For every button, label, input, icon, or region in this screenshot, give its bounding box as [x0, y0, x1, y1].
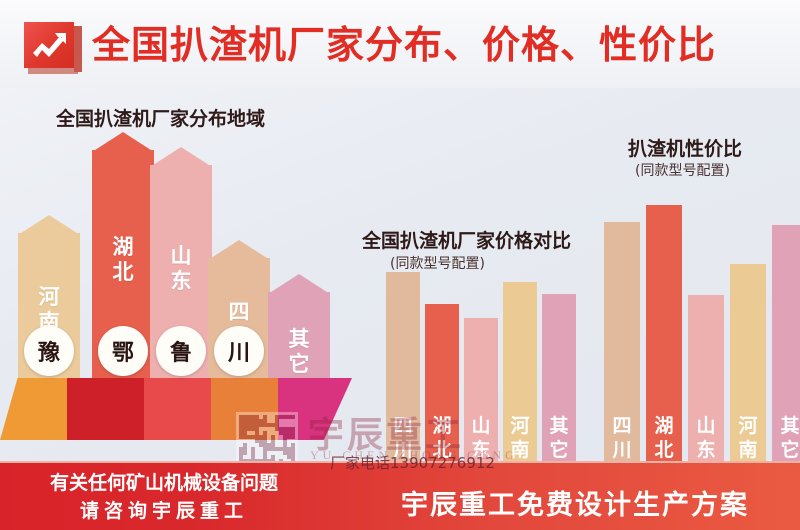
bar-value-for-money-4: 其 它 [772, 225, 800, 470]
bar-label: 四 川 [612, 414, 633, 462]
province-badge: 鲁 [156, 326, 206, 376]
province-badge: 豫 [24, 326, 74, 376]
banner-right-text: 宇辰重工免费设计生产方案 [360, 483, 790, 522]
bar-distribution-0: 河 南豫 [18, 215, 80, 390]
chart-subtitle-value: (同款型号配置) [635, 160, 730, 180]
bar-label: 其 它 [287, 327, 311, 377]
banner-left-line1: 有关任何矿山机械设备问题 [14, 469, 314, 497]
bar-roof [208, 240, 270, 260]
bar-label: 河 南 [738, 414, 759, 462]
banner-left-text: 有关任何矿山机械设备问题 请咨询宇辰重工 [14, 469, 314, 525]
bar-distribution-3: 四 川川 [208, 240, 270, 390]
page-title: 全国扒渣机厂家分布、价格、性价比 [92, 20, 716, 70]
trend-up-cube-icon [24, 22, 82, 74]
base-segment [67, 378, 144, 440]
bar-roof [92, 132, 154, 152]
bar-roof [268, 274, 330, 294]
bar-roof [150, 147, 212, 167]
base-segment [144, 378, 211, 440]
banner-left-line2: 请咨询宇辰重工 [14, 497, 314, 525]
bar-label: 其 它 [780, 414, 800, 462]
bar-value-for-money-2: 山 东 [688, 295, 724, 470]
bar-value-for-money-3: 河 南 [730, 264, 766, 470]
bar-distribution-4: 其 它 [268, 274, 330, 390]
chart-distribution: 河 南豫湖 北鄂山 东鲁四 川川其 它 [0, 120, 352, 390]
chart-title-value: 扒渣机性价比 [628, 134, 742, 161]
bar-label: 山 东 [696, 414, 717, 462]
bar-roof [18, 215, 80, 235]
bar-label: 山 东 [169, 244, 193, 294]
bar-label: 湖 北 [654, 414, 675, 462]
province-badge: 鄂 [98, 326, 148, 376]
header-bar: 全国扒渣机厂家分布、价格、性价比 [0, 0, 800, 88]
province-badge: 川 [214, 326, 264, 376]
bar-distribution-2: 山 东鲁 [150, 147, 212, 390]
bar-distribution-1: 湖 北鄂 [92, 132, 154, 390]
chart-title-price: 全国扒渣机厂家价格对比 [362, 226, 571, 253]
bar-value-for-money-1: 湖 北 [646, 205, 682, 470]
infographic-canvas: 全国扒渣机厂家分布、价格、性价比 全国扒渣机厂家分布地域 全国扒渣机厂家价格对比… [0, 0, 800, 530]
factory-phone: 厂家电话13907276912 [330, 452, 495, 473]
chart-value: 四 川湖 北山 东河 南其 它 [600, 185, 800, 470]
bar-label: 湖 北 [111, 235, 135, 285]
bar-value-for-money-0: 四 川 [604, 222, 640, 470]
